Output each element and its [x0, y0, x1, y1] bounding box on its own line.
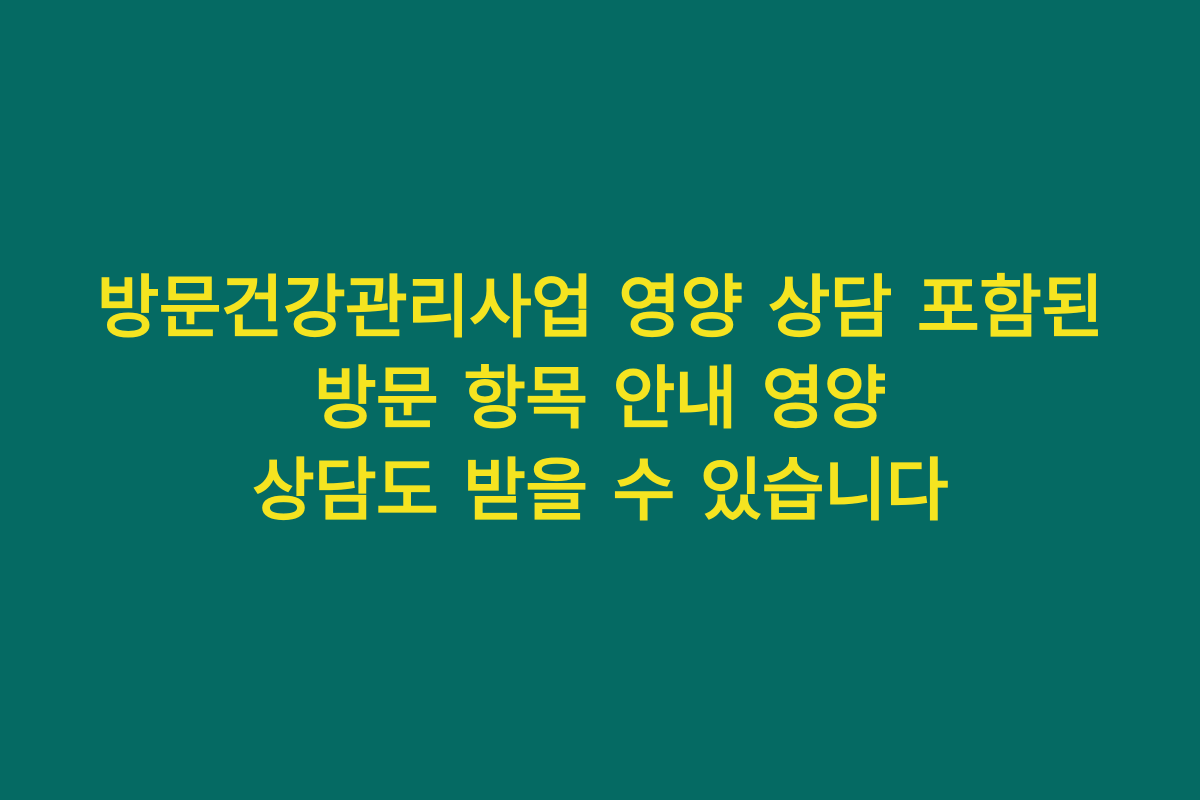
- banner-canvas: 방문건강관리사업 영양 상담 포함된 방문 항목 안내 영양 상담도 받을 수 …: [0, 0, 1200, 800]
- headline-line-1: 방문건강관리사업 영양 상담 포함된: [35, 263, 1165, 354]
- headline-line-2: 방문 항목 안내 영양: [35, 354, 1165, 445]
- headline-text: 방문건강관리사업 영양 상담 포함된 방문 항목 안내 영양 상담도 받을 수 …: [35, 263, 1165, 536]
- headline-line-3: 상담도 받을 수 있습니다: [35, 446, 1165, 537]
